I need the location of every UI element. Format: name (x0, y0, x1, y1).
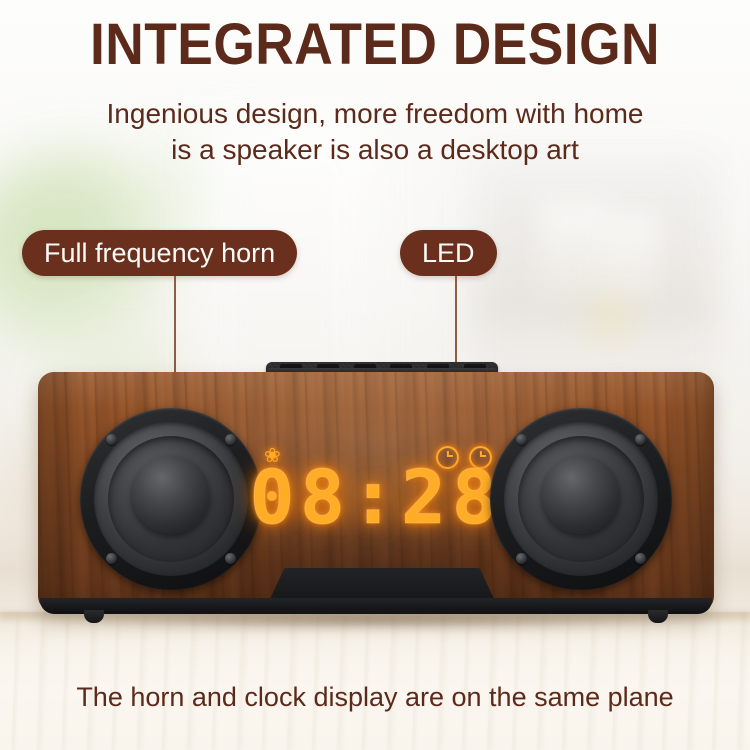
background-warm-blur (575, 290, 645, 350)
driver-screw (516, 434, 527, 445)
speaker-shadow (56, 614, 696, 630)
speaker-base-plate (40, 598, 712, 614)
driver-dust-cap (542, 456, 620, 534)
footer-caption: The horn and clock display are on the sa… (0, 680, 750, 714)
driver-screw (106, 434, 117, 445)
speaker-driver-left (80, 408, 262, 590)
driver-screw (106, 553, 117, 564)
driver-screw (635, 434, 646, 445)
page-subtitle-line-1: Ingenious design, more freedom with home (0, 96, 750, 132)
driver-screw (516, 553, 527, 564)
callout-led: LED (400, 230, 497, 276)
page-subtitle: Ingenious design, more freedom with home… (0, 96, 750, 168)
speaker-cabinet: ❀ 08:28 (38, 372, 714, 612)
driver-dust-cap (132, 456, 210, 534)
clock-time: 08:28 (250, 460, 502, 536)
product-banner: INTEGRATED DESIGN Ingenious design, more… (0, 0, 750, 750)
background-jar-blur-2 (600, 215, 660, 300)
led-clock-display: ❀ 08:28 (250, 446, 502, 538)
driver-screw (635, 553, 646, 564)
page-title: INTEGRATED DESIGN (30, 16, 720, 74)
driver-screw (225, 434, 236, 445)
page-subtitle-line-2: is a speaker is also a desktop art (0, 132, 750, 168)
driver-screw (225, 553, 236, 564)
speaker-driver-right (490, 408, 672, 590)
callout-full-frequency-horn: Full frequency horn (22, 230, 297, 276)
speaker-product: ❀ 08:28 (38, 362, 714, 618)
